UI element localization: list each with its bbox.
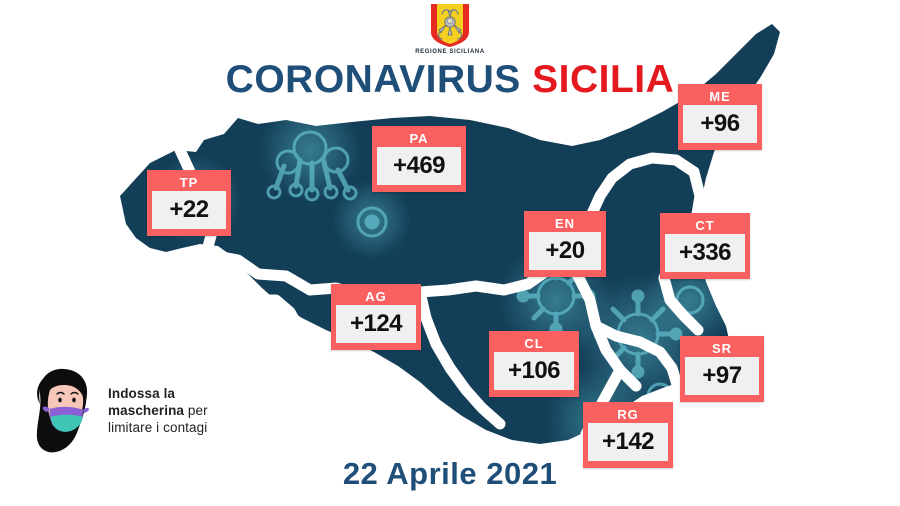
logo-caption: REGIONE SICILIANA — [415, 49, 485, 55]
province-badge-ag: AG+124 — [331, 284, 421, 350]
province-new-cases: +97 — [685, 357, 759, 395]
province-code: PA — [377, 130, 461, 147]
mask-notice: Indossa la mascherina per limitare i con… — [26, 355, 276, 465]
province-new-cases: +106 — [494, 352, 574, 390]
regione-siciliana-logo: REGIONE SICILIANA — [0, 2, 900, 55]
province-badge-me: ME+96 — [678, 84, 762, 150]
province-new-cases: +469 — [377, 147, 461, 185]
province-code: CL — [494, 335, 574, 352]
province-code: AG — [336, 288, 416, 305]
province-badge-pa: PA+469 — [372, 126, 466, 192]
trinacria-crest-icon — [427, 2, 473, 48]
province-new-cases: +96 — [683, 105, 757, 143]
province-new-cases: +336 — [665, 234, 745, 272]
province-code: EN — [529, 215, 601, 232]
province-badge-cl: CL+106 — [489, 331, 579, 397]
mask-line2-rest: per — [188, 403, 208, 418]
mask-notice-text: Indossa la mascherina per limitare i con… — [108, 385, 208, 436]
title-main: CORONAVIRUS — [226, 58, 521, 101]
mask-line3: limitare i contagi — [108, 420, 207, 435]
province-new-cases: +124 — [336, 305, 416, 343]
province-code: TP — [152, 174, 226, 191]
woman-wearing-mask-icon — [26, 364, 100, 456]
province-code: RG — [588, 406, 668, 423]
mask-line2-bold: mascherina — [108, 403, 184, 418]
province-code: CT — [665, 217, 745, 234]
province-badge-en: EN+20 — [524, 211, 606, 277]
province-code: ME — [683, 88, 757, 105]
page-title: CORONAVIRUS SICILIA — [0, 60, 900, 99]
report-date: 22 Aprile 2021 — [0, 456, 900, 492]
province-new-cases: +22 — [152, 191, 226, 229]
mask-line1: Indossa la — [108, 386, 175, 401]
province-code: SR — [685, 340, 759, 357]
infographic-root: REGIONE SICILIANA CORONAVIRUS SICILIA TP… — [0, 0, 900, 506]
title-accent: SICILIA — [532, 58, 674, 101]
province-new-cases: +20 — [529, 232, 601, 270]
province-badge-ct: CT+336 — [660, 213, 750, 279]
province-badge-sr: SR+97 — [680, 336, 764, 402]
province-badge-tp: TP+22 — [147, 170, 231, 236]
